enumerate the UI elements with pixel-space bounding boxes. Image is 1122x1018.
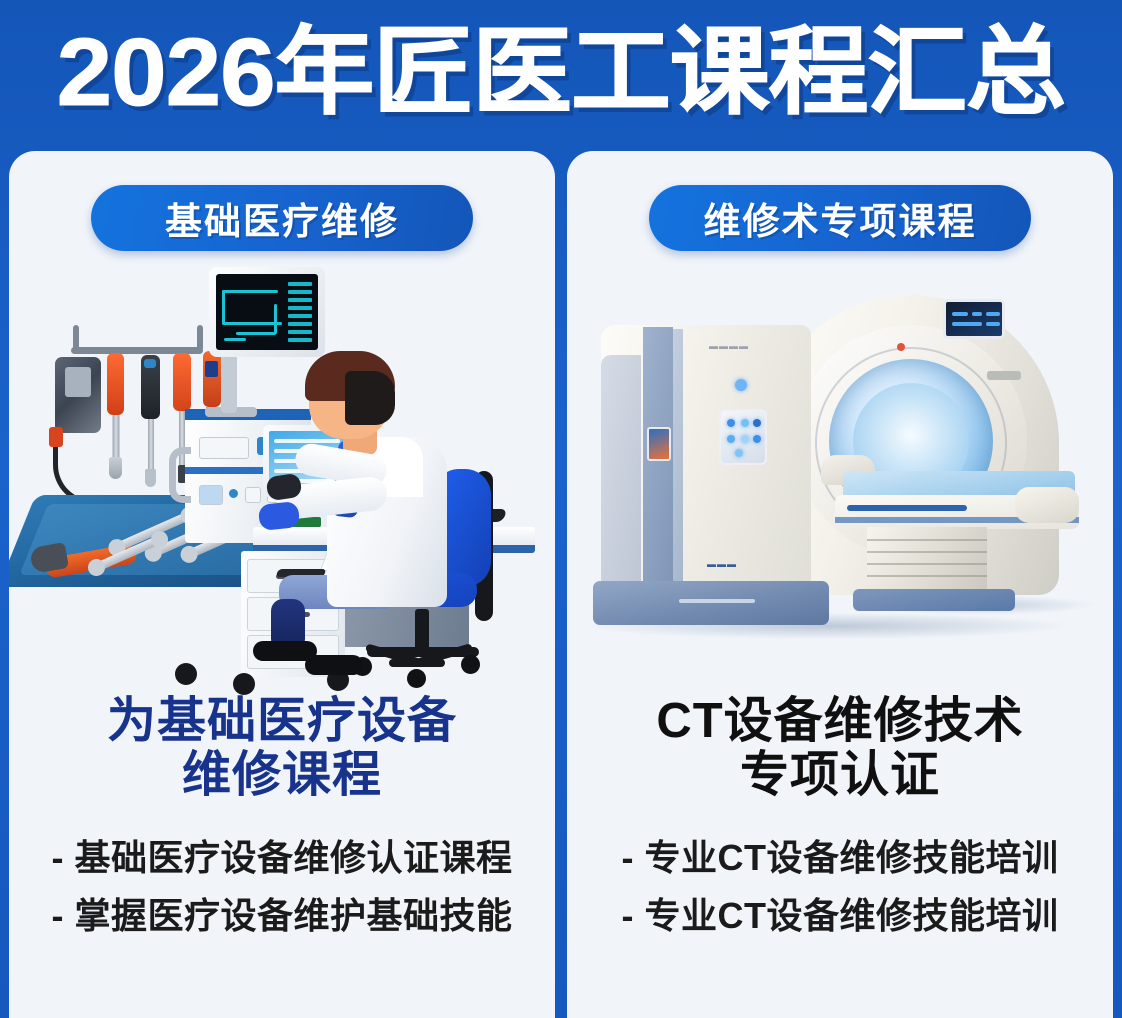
course-cards-container: 基础医疗维修 xyxy=(0,151,1122,1018)
tool-rack-leg-icon xyxy=(73,325,79,351)
poster-root: 2026年匠医工课程汇总 基础医疗维修 xyxy=(0,0,1122,1018)
chair-post-icon xyxy=(415,609,429,651)
ct-vent-icon xyxy=(987,371,1021,380)
ct-side-panel-icon xyxy=(601,355,641,587)
multimeter-icon xyxy=(55,357,101,433)
table-accent-stripe-icon xyxy=(847,505,967,511)
card-heading-ct-repair: CT设备维修技术 专项认证 xyxy=(656,695,1023,803)
cart-indicator-icon xyxy=(229,489,238,498)
ct-brand-logo-icon: ▬▬▬▬ xyxy=(709,341,749,351)
cart-handle-icon xyxy=(169,447,191,503)
caster-wheel-icon xyxy=(233,673,255,695)
illustration-ct-scanner: ▬▬▬▬ ▬▬▬ xyxy=(567,259,1113,689)
screwdriver-icon xyxy=(141,355,160,419)
ct-control-panel-icon[interactable] xyxy=(719,409,767,465)
bullet-item: - 专业CT设备维修技能培训 xyxy=(581,829,1099,887)
screwdriver-icon xyxy=(173,353,191,411)
technician-shoe-icon xyxy=(305,655,363,675)
bullet-item: - 掌握医疗设备维护基础技能 xyxy=(23,887,541,945)
patient-monitor-icon xyxy=(209,267,325,357)
poster-title-bar: 2026年匠医工课程汇总 xyxy=(0,0,1122,146)
heading-line-2: 专项认证 xyxy=(656,749,1023,803)
card-bullets-basic-repair: - 基础医疗设备维修认证课程 - 掌握医疗设备维护基础技能 xyxy=(9,829,555,946)
screwdriver-icon xyxy=(107,353,124,415)
badge-label: 基础医疗维修 xyxy=(165,191,399,245)
badge-basic-medical-repair[interactable]: 基础医疗维修 xyxy=(91,185,473,251)
badge-label: 维修术专项课程 xyxy=(704,191,977,245)
heading-line-2: 维修课程 xyxy=(107,749,457,803)
caster-wheel-icon xyxy=(175,663,197,685)
chair-leg-icon xyxy=(389,659,445,667)
illustration-medical-repair-workbench xyxy=(9,259,555,689)
page-title: 2026年匠医工课程汇总 xyxy=(57,25,1065,121)
heading-line-1: 为基础医疗设备 xyxy=(107,695,457,749)
cart-display-panel-icon xyxy=(199,437,249,459)
multimeter-display-icon xyxy=(65,367,91,397)
course-card-ct-repair[interactable]: 维修术专项课程 xyxy=(567,151,1113,1018)
screwdriver-icon xyxy=(203,351,221,407)
table-pedestal-icon xyxy=(867,527,987,593)
bullet-item: - 基础医疗设备维修认证课程 xyxy=(23,829,541,887)
cart-small-panel-icon xyxy=(245,487,261,503)
heading-line-1: CT设备维修技术 xyxy=(656,695,1023,749)
ct-model-label-icon: ▬▬▬ xyxy=(707,559,737,569)
ct-accent-strip-icon xyxy=(673,329,683,587)
ct-display-screen-icon xyxy=(943,299,1005,339)
monitor-screen-icon xyxy=(216,274,318,350)
ct-side-display-icon xyxy=(647,427,671,461)
ct-status-light-icon xyxy=(897,343,905,351)
table-headrest-icon xyxy=(1015,487,1079,523)
badge-ct-specialty-course[interactable]: 维修术专项课程 xyxy=(649,185,1031,251)
chair-wheel-icon xyxy=(407,669,426,688)
cart-sub-panel-icon xyxy=(199,485,223,505)
card-heading-basic-repair: 为基础医疗设备 维修课程 xyxy=(107,695,457,803)
chair-wheel-icon xyxy=(461,655,480,674)
multimeter-probe-icon xyxy=(49,427,63,447)
bullet-item: - 专业CT设备维修技能培训 xyxy=(581,887,1099,945)
monitor-arm-icon xyxy=(221,355,237,413)
ct-base-icon xyxy=(593,581,829,625)
card-bullets-ct-repair: - 专业CT设备维修技能培训 - 专业CT设备维修技能培训 xyxy=(567,829,1113,946)
ct-base-line-icon xyxy=(679,599,755,603)
ct-indicator-icon xyxy=(735,379,747,391)
course-card-basic-medical-repair[interactable]: 基础医疗维修 xyxy=(9,151,555,1018)
tool-rack-leg-icon xyxy=(197,325,203,351)
technician-hair-back-icon xyxy=(345,371,395,425)
table-foot-base-icon xyxy=(853,589,1015,611)
